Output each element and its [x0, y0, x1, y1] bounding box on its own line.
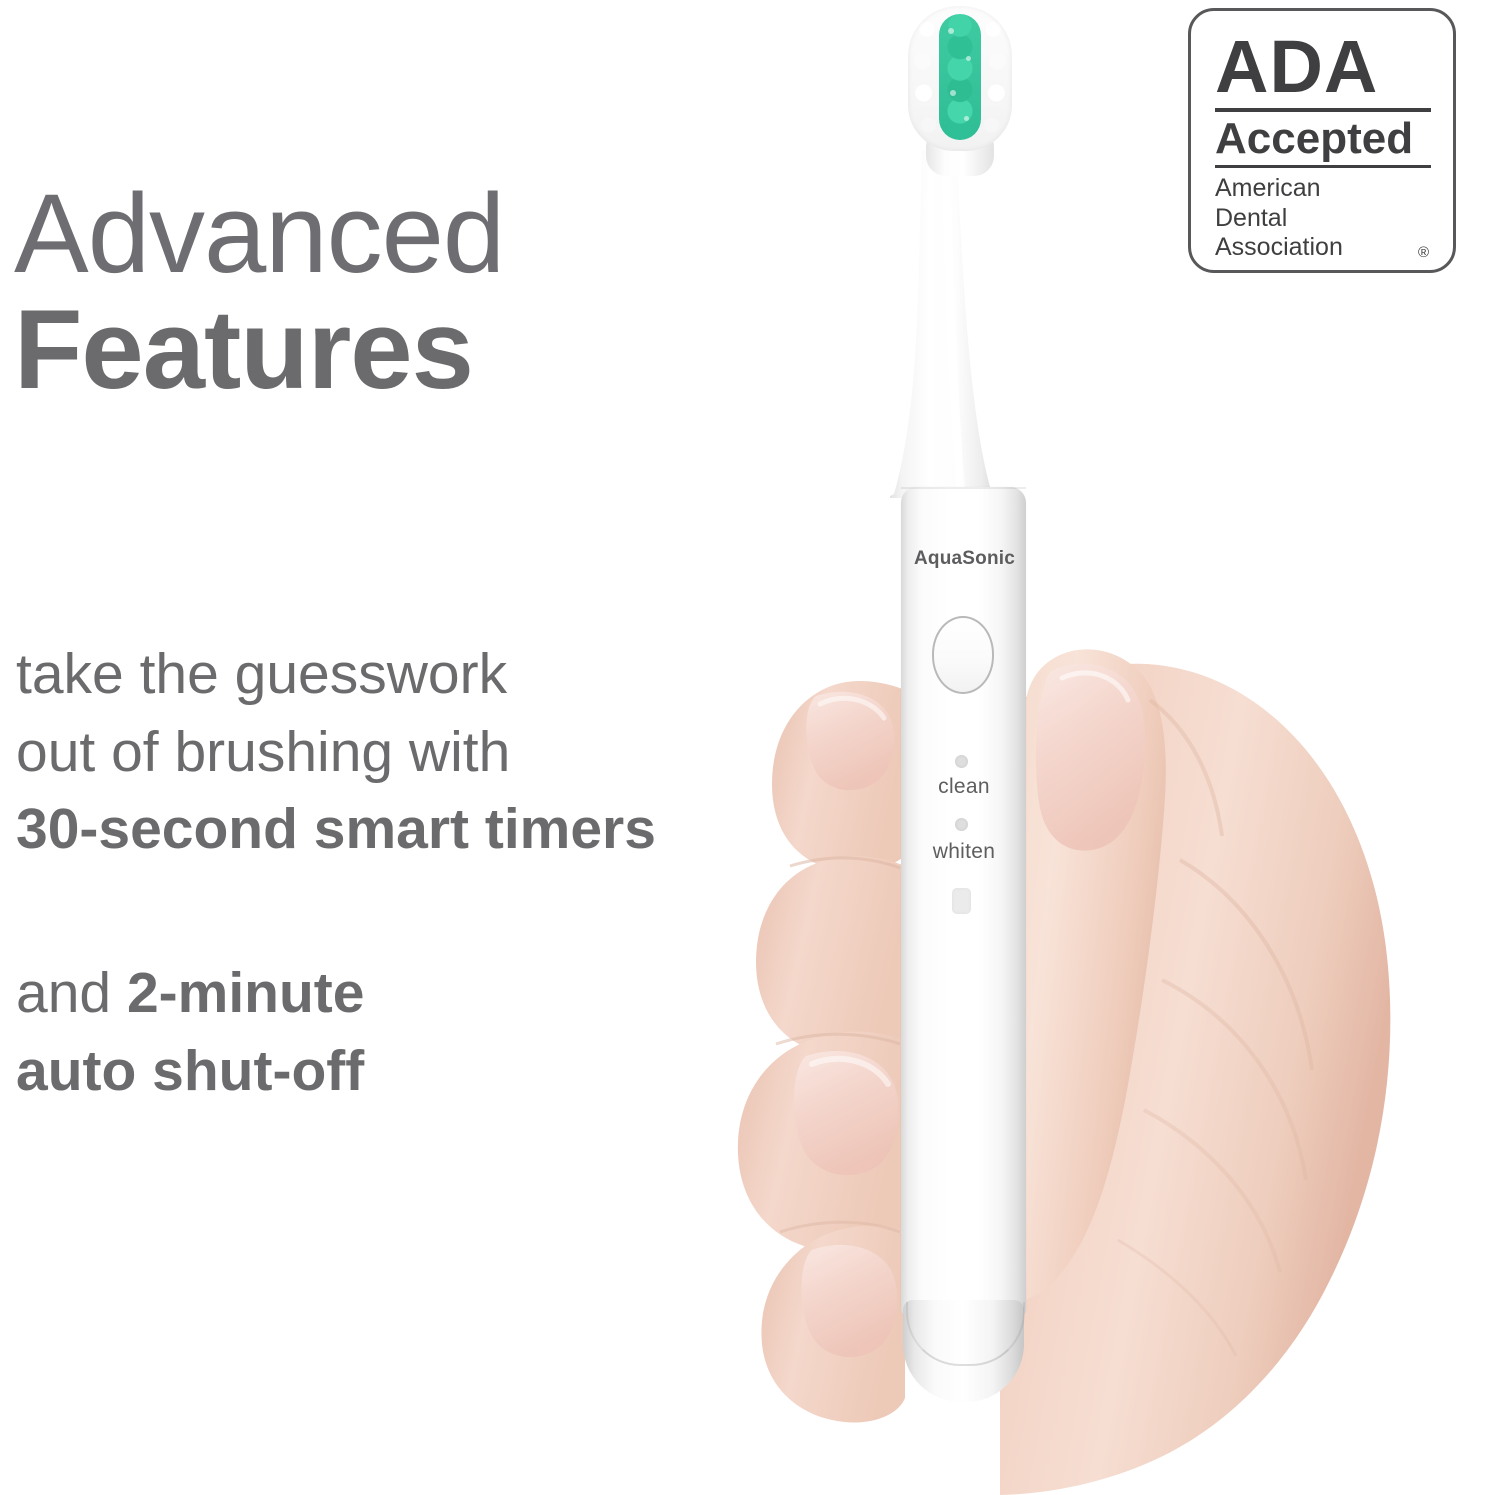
- mode-label-whiten[interactable]: whiten: [899, 840, 1029, 864]
- battery-indicator-icon: [952, 888, 971, 914]
- toothbrush-neck: [890, 150, 1050, 500]
- bristle-speck: [964, 116, 969, 121]
- power-button[interactable]: [932, 616, 994, 694]
- handle-top-seam: [901, 487, 1026, 489]
- bristle-speck: [966, 56, 971, 61]
- bristle-speck: [950, 90, 956, 96]
- led-indicator-whiten: [955, 818, 968, 831]
- electric-toothbrush: AquaSonic clean whiten: [0, 0, 1500, 1495]
- mode-label-clean[interactable]: clean: [899, 775, 1029, 799]
- brand-logo: AquaSonic: [914, 548, 1014, 570]
- bristle-speck: [948, 28, 954, 34]
- bristles-inner-teal: [939, 14, 981, 140]
- led-indicator-clean: [955, 755, 968, 768]
- brush-head: [908, 6, 1012, 166]
- product-feature-image: Advanced Features take the guesswork out…: [0, 0, 1500, 1495]
